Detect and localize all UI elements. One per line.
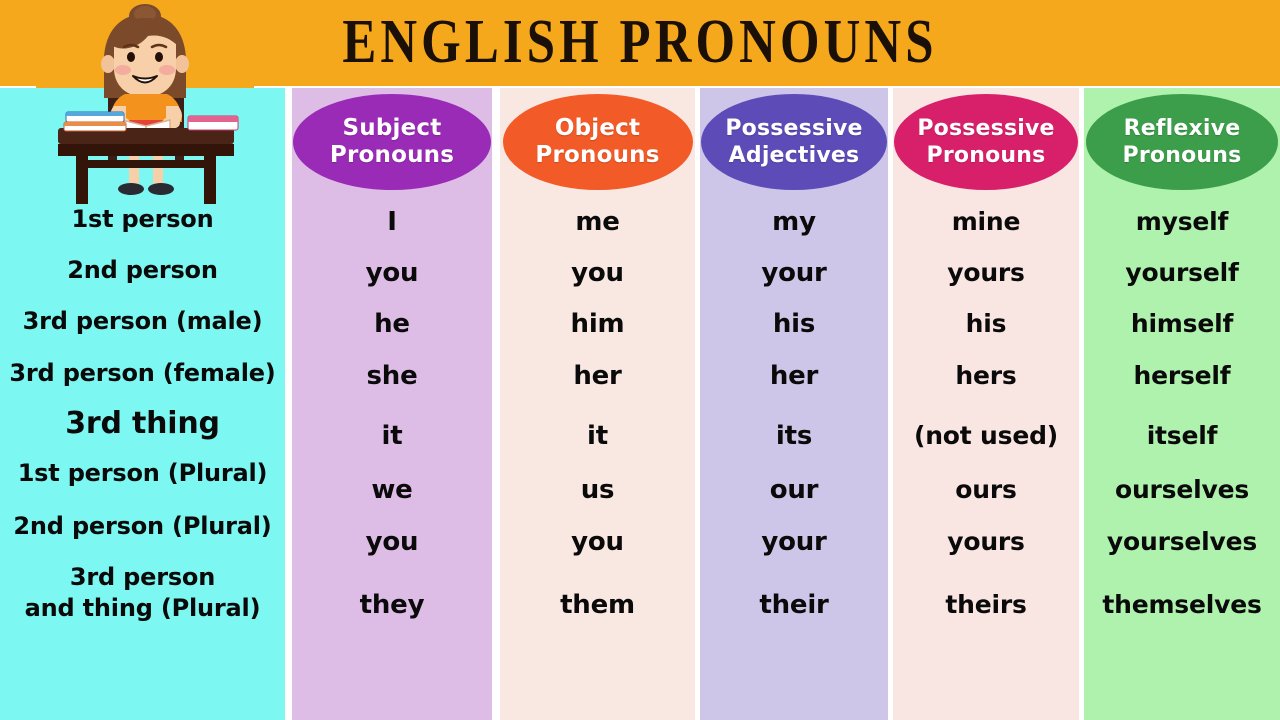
column-object-pronouns: Object Pronouns me you him her it us you… [500,88,695,720]
table-cell: we [292,475,492,505]
table-cell: him [500,309,695,339]
row-label: 1st person (Plural) [0,458,285,489]
header-line-1: Reflexive [1124,114,1241,143]
table-cell: himself [1084,309,1280,339]
table-cell: them [500,590,695,620]
table-cell: their [700,590,888,620]
column-reflexive-pronouns: Reflexive Pronouns myself yourself himse… [1084,88,1280,720]
table-cell: my [700,207,888,237]
table-cell: yours [893,258,1079,288]
row-label: 3rd person (female) [0,358,285,389]
header-line-2: Adjectives [729,141,860,170]
table-cell: it [500,421,695,451]
header-line-2: Pronouns [330,141,454,170]
header-line-1: Object [555,114,640,143]
column-header-possessive-adjectives: Possessive Adjectives [701,94,887,190]
table-cell: she [292,361,492,391]
row-label: 3rd person (male) [0,306,285,337]
column-header-subject-pronouns: Subject Pronouns [293,94,491,190]
table-cell: theirs [893,590,1079,620]
table-cell: you [500,258,695,288]
row-label: 2nd person (Plural) [0,511,285,542]
row-label: 3rd thing [0,406,285,442]
row-label-line: 2nd person (Plural) [0,511,285,542]
row-label-line: 1st person [0,204,285,235]
header-line-2: Pronouns [1123,141,1242,170]
table-cell: his [700,309,888,339]
value-list: my your his her its our your their [700,200,888,620]
page-title: ENGLISH PRONOUNS [115,0,1165,86]
table-cell: yours [893,527,1079,557]
table-cell: his [893,309,1079,339]
table-cell: its [700,421,888,451]
column-possessive-pronouns: Possessive Pronouns mine yours his hers … [893,88,1079,720]
table-cell: you [292,527,492,557]
pronouns-chart: ENGLISH PRONOUNS [0,0,1280,720]
value-list: myself yourself himself herself itself o… [1084,200,1280,620]
table-cell: they [292,590,492,620]
girl-reading-at-desk-illustration [36,2,254,207]
table-cell: her [500,361,695,391]
table-cell: yourself [1084,258,1280,288]
row-label: 3rd person and thing (Plural) [0,562,285,624]
table-cell: I [292,207,492,237]
table-cell: mine [893,207,1079,237]
column-possessive-adjectives: Possessive Adjectives my your his her it… [700,88,888,720]
table-cell: you [292,258,492,288]
header-line-2: Pronouns [927,141,1046,170]
column-header-object-pronouns: Object Pronouns [503,94,693,190]
table-cell: themselves [1084,590,1280,620]
row-label-line: 2nd person [0,255,285,286]
table-cell: myself [1084,207,1280,237]
row-label-line: and thing (Plural) [0,593,285,624]
column-subject-pronouns: Subject Pronouns I you he she it we you … [292,88,492,720]
column-header-reflexive-pronouns: Reflexive Pronouns [1086,94,1278,190]
table-cell: her [700,361,888,391]
row-label-list: 1st person 2nd person 3rd person (male) … [0,200,285,624]
row-label-line: 3rd person (male) [0,306,285,337]
table-cell: itself [1084,421,1280,451]
table-cell: your [700,527,888,557]
value-list: mine yours his hers (not used) ours your… [893,200,1079,620]
row-label-line: 3rd person (female) [0,358,285,389]
column-header-possessive-pronouns: Possessive Pronouns [894,94,1078,190]
header-line-1: Possessive [917,114,1054,143]
header-line-2: Pronouns [535,141,659,170]
row-label: 2nd person [0,255,285,286]
row-label-line: 3rd person [0,562,285,593]
row-label: 1st person [0,204,285,235]
header-line-1: Subject [343,114,442,143]
table-cell: me [500,207,695,237]
table-cell: ourselves [1084,475,1280,505]
table-cell: it [292,421,492,451]
table-cell: your [700,258,888,288]
table-cell: our [700,475,888,505]
table-cell: ours [893,475,1079,505]
table-cell: you [500,527,695,557]
table-cell: hers [893,361,1079,391]
value-list: I you he she it we you they [292,200,492,620]
header-line-1: Possessive [725,114,862,143]
row-label-line: 1st person (Plural) [0,458,285,489]
table-cell: yourselves [1084,527,1280,557]
table-cell: he [292,309,492,339]
value-list: me you him her it us you them [500,200,695,620]
table-cell: us [500,475,695,505]
row-label-line: 3rd thing [0,406,285,442]
table-cell: (not used) [893,421,1079,451]
table-cell: herself [1084,361,1280,391]
